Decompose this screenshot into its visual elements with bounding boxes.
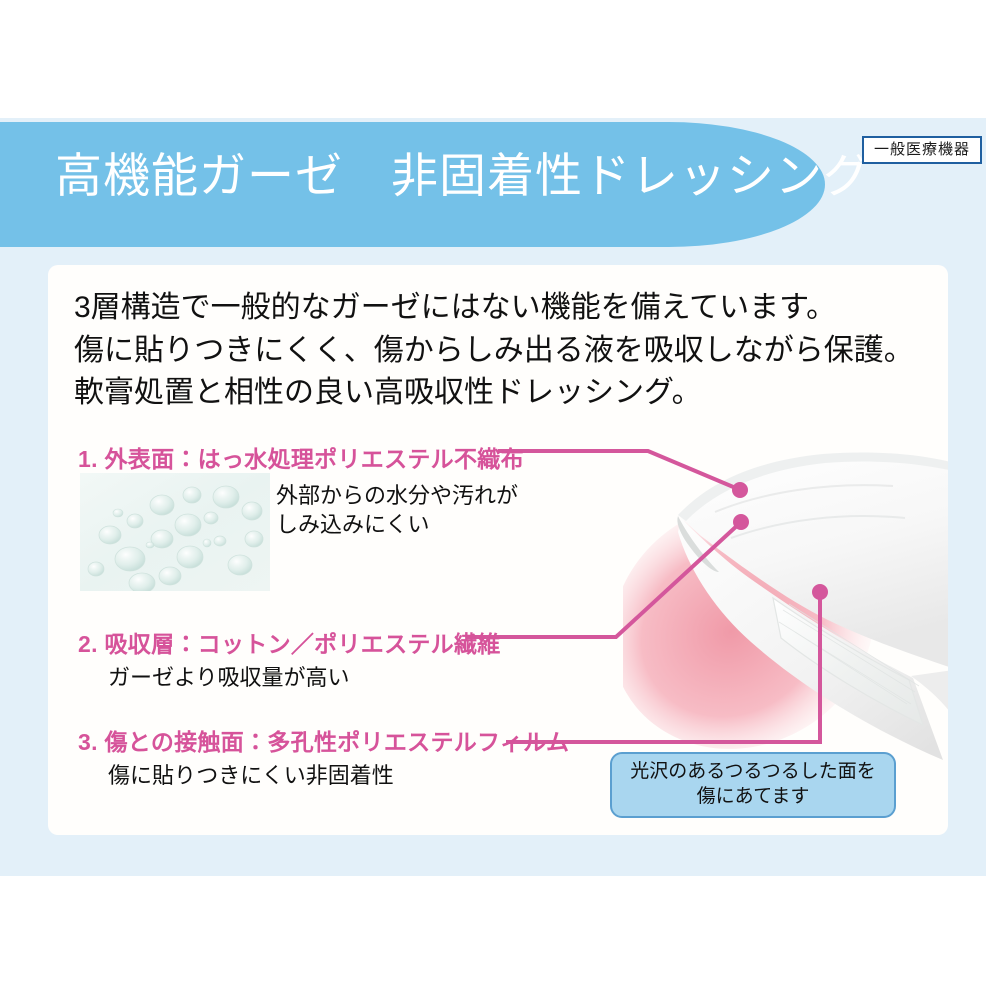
feature-1-heading: 1. 外表面：はっ水処理ポリエステル不織布 <box>78 440 524 474</box>
intro-paragraph: 3層構造で一般的なガーゼにはない機能を備えています。 傷に貼りつきにくく、傷から… <box>74 287 924 415</box>
feature-1-desc-line-2: しみ込みにくい <box>276 510 518 539</box>
device-class-badge: 一般医療機器 <box>862 136 982 164</box>
feature-3-description: 傷に貼りつきにくい非固着性 <box>108 761 394 790</box>
feature-2-description: ガーゼより吸収量が高い <box>108 663 350 692</box>
feature-1-description: 外部からの水分や汚れが しみ込みにくい <box>276 481 518 539</box>
usage-callout: 光沢のあるつるつるした面を 傷にあてます <box>610 752 896 818</box>
callout-line-2: 傷にあてます <box>630 785 875 810</box>
feature-3-desc-line-1: 傷に貼りつきにくい非固着性 <box>108 761 394 790</box>
content-card: 3層構造で一般的なガーゼにはない機能を備えています。 傷に貼りつきにくく、傷から… <box>48 265 948 835</box>
intro-line-2: 傷に貼りつきにくく、傷からしみ出る液を吸収しながら保護。 <box>74 330 924 373</box>
intro-line-3: 軟膏処置と相性の良い高吸収性ドレッシング。 <box>74 372 924 415</box>
water-repellent-sample-image <box>80 473 270 591</box>
intro-line-1: 3層構造で一般的なガーゼにはない機能を備えています。 <box>74 287 924 330</box>
feature-1-desc-line-1: 外部からの水分や汚れが <box>276 481 518 510</box>
page-title: 高機能ガーゼ 非固着性ドレッシング <box>55 150 795 202</box>
feature-2-heading: 2. 吸収層：コットン／ポリエステル繊維 <box>78 625 501 659</box>
feature-2-desc-line-1: ガーゼより吸収量が高い <box>108 663 350 692</box>
callout-line-1: 光沢のあるつるつるした面を <box>630 760 875 785</box>
feature-3-heading: 3. 傷との接触面：多孔性ポリエステルフィルム <box>78 723 569 757</box>
slide-page: 高機能ガーゼ 非固着性ドレッシング 一般医療機器 3層構造で一般的なガーゼにはな… <box>0 0 1000 1000</box>
product-photo <box>623 420 948 780</box>
